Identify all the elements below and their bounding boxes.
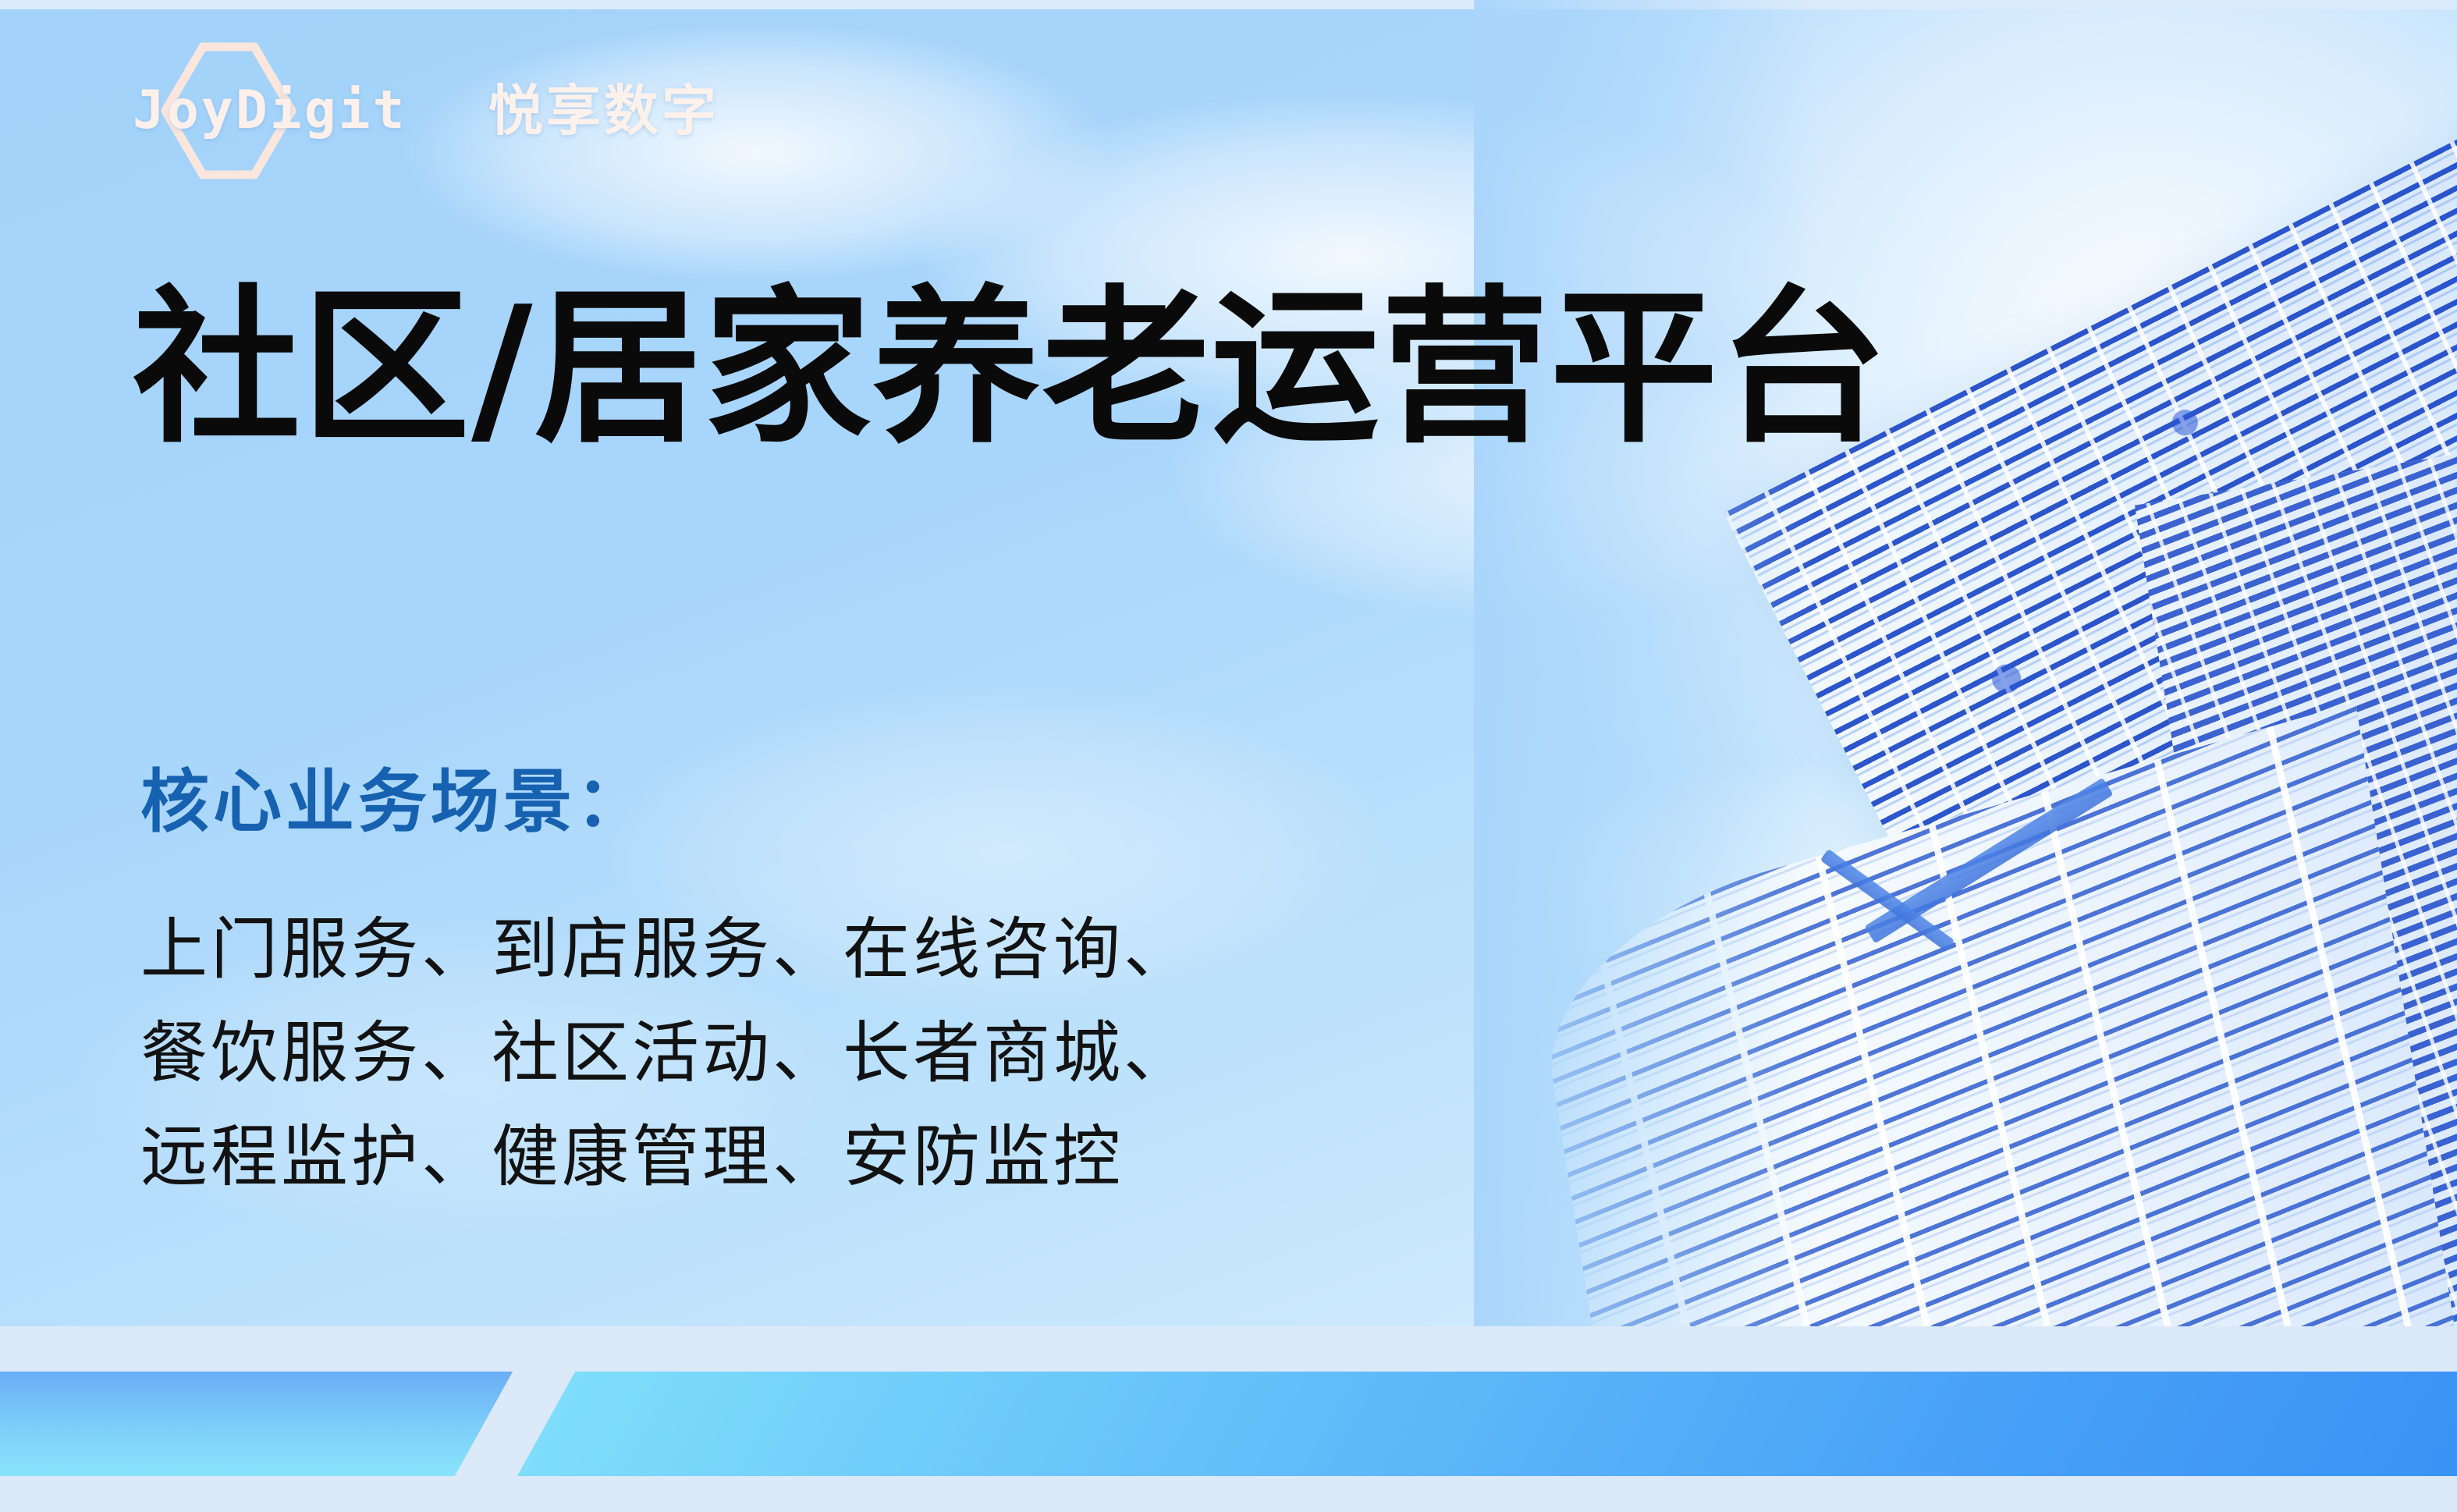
logo-latin-text: JoyDigit: [133, 84, 407, 137]
skyscraper-background-image: [1474, 0, 2457, 1397]
slide-root: JoyDigit 悦享数字 社区/居家养老运营平台 核心业务场景： 上门服务、到…: [0, 0, 2457, 1512]
brand-logo: JoyDigit 悦享数字: [133, 72, 719, 150]
scenario-line: 上门服务、到店服务、在线咨询、: [140, 898, 1194, 1002]
logo-chinese-text: 悦享数字: [488, 83, 719, 138]
band-right-parallelogram: [517, 1372, 2457, 1476]
band-left-parallelogram: [0, 1372, 513, 1476]
bottom-diagonal-band: [0, 1326, 2457, 1512]
logo-mark: JoyDigit: [133, 72, 468, 150]
scenario-line: 餐饮服务、社区活动、长者商城、: [140, 1002, 1194, 1106]
building-edge-fade: [1474, 0, 1817, 1397]
section-heading: 核心业务场景：: [140, 761, 1194, 843]
scenario-line: 远程监护、健康管理、安防监控: [140, 1106, 1194, 1209]
content-block: 核心业务场景： 上门服务、到店服务、在线咨询、 餐饮服务、社区活动、长者商城、 …: [140, 761, 1194, 1209]
page-title: 社区/居家养老运营平台: [133, 275, 1889, 463]
